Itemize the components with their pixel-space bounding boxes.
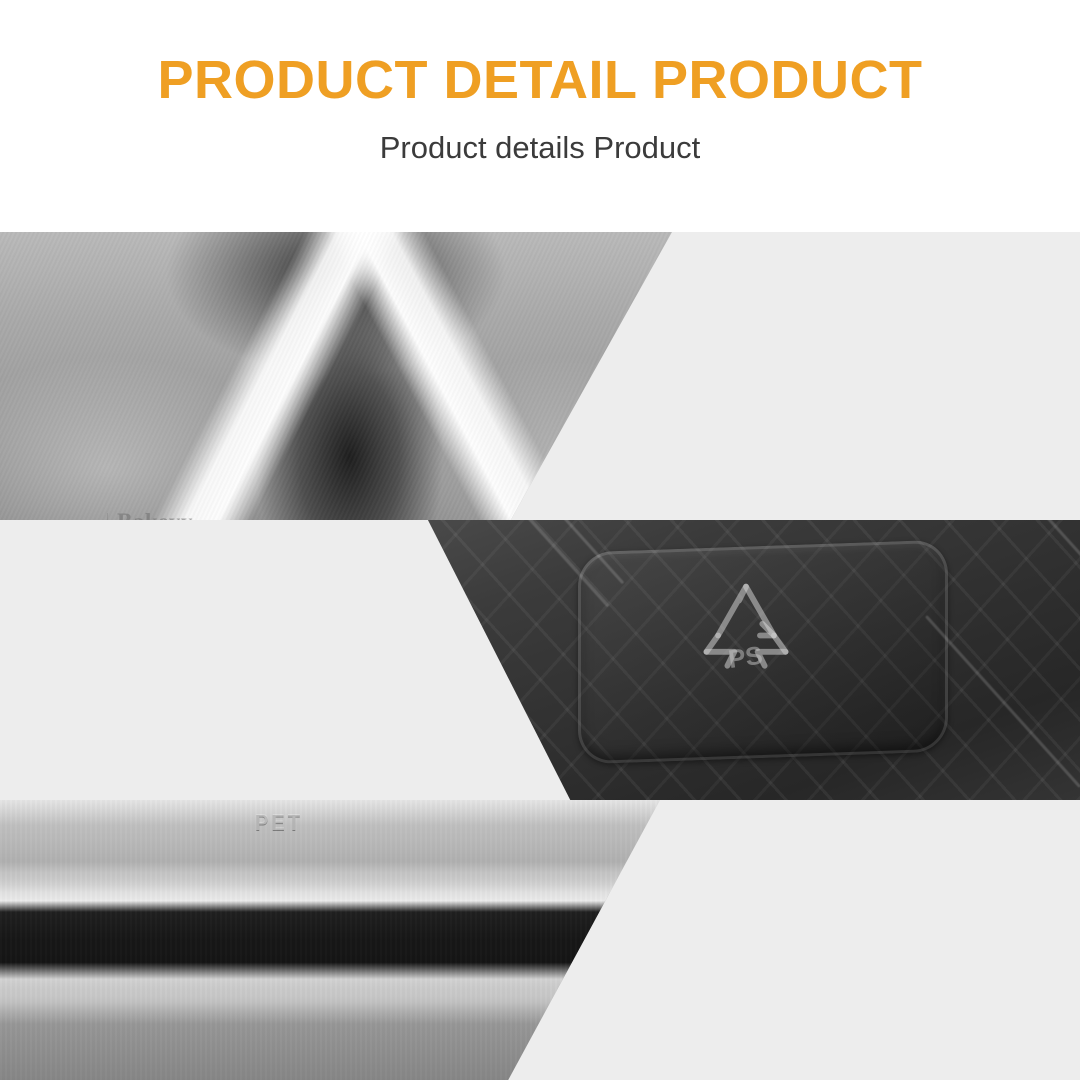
lid-rib <box>925 615 1080 788</box>
feature-band-1: Bakeyy www.bakeyy.com 1 MOOTH THE EDGES <box>0 232 1080 520</box>
feature-photo-1 <box>0 232 672 520</box>
page-title: PRODUCT DETAIL PRODUCT <box>158 52 923 109</box>
page-subtitle: Product details Product <box>380 131 701 165</box>
neat-rim-edge-photo: PET <box>0 800 660 1080</box>
lid-rib <box>1010 520 1080 627</box>
product-detail-infographic: PRODUCT DETAIL PRODUCT Product details P… <box>0 0 1080 1080</box>
header-section: PRODUCT DETAIL PRODUCT Product details P… <box>0 0 1080 232</box>
feature-band-3: PET 3 NEAT EDGES <box>0 800 1080 1080</box>
pet-emboss-text: PET <box>236 803 322 842</box>
recycle-ps-lid-photo: PS <box>418 520 1080 800</box>
feature-band-2: PS Bakeyy www.bakeyy.com <box>0 520 1080 800</box>
recycle-code-text: PS <box>727 642 765 674</box>
feature-photo-3: PET <box>0 800 660 1080</box>
feature-photo-2: PS <box>418 520 1080 800</box>
recycle-symbol-icon: PS <box>676 568 816 696</box>
smooth-edge-corner-photo <box>0 232 672 520</box>
